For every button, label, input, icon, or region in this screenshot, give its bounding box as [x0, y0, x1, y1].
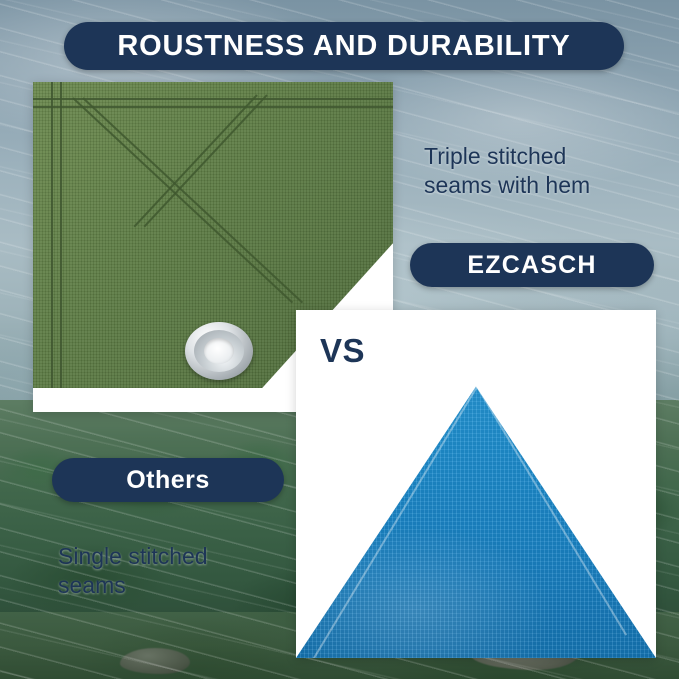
- infographic-canvas: ROUSTNESS AND DURABILITY Triple stitched…: [0, 0, 679, 679]
- grommet-hole: [204, 338, 234, 364]
- page-title: ROUSTNESS AND DURABILITY: [117, 30, 570, 63]
- competitor-caption-line-2: seams: [58, 571, 278, 600]
- title-banner: ROUSTNESS AND DURABILITY: [64, 22, 624, 70]
- brand-pill-ezcasch: EZCASCH: [410, 243, 654, 287]
- brand-pill-label: EZCASCH: [467, 251, 596, 280]
- competitor-pill-others: Others: [52, 458, 284, 502]
- ezcasch-caption-line-1: Triple stitched: [424, 142, 654, 171]
- competitor-caption-line-1: Single stitched: [58, 542, 278, 571]
- green-tarp-seam-top-horizontal-2: [33, 106, 393, 108]
- ezcasch-caption-line-2: seams with hem: [424, 171, 654, 200]
- competitor-product-card: VS: [296, 310, 656, 658]
- green-tarp-seam-left-vertical: [51, 82, 53, 388]
- ezcasch-caption: Triple stitched seams with hem: [424, 142, 654, 201]
- competitor-caption: Single stitched seams: [58, 542, 278, 601]
- background-rock-small: [120, 648, 190, 674]
- green-tarp-seam-left-vertical-2: [60, 82, 62, 388]
- vs-label: VS: [320, 332, 365, 370]
- competitor-pill-label: Others: [126, 466, 210, 495]
- metal-grommet: [185, 322, 253, 380]
